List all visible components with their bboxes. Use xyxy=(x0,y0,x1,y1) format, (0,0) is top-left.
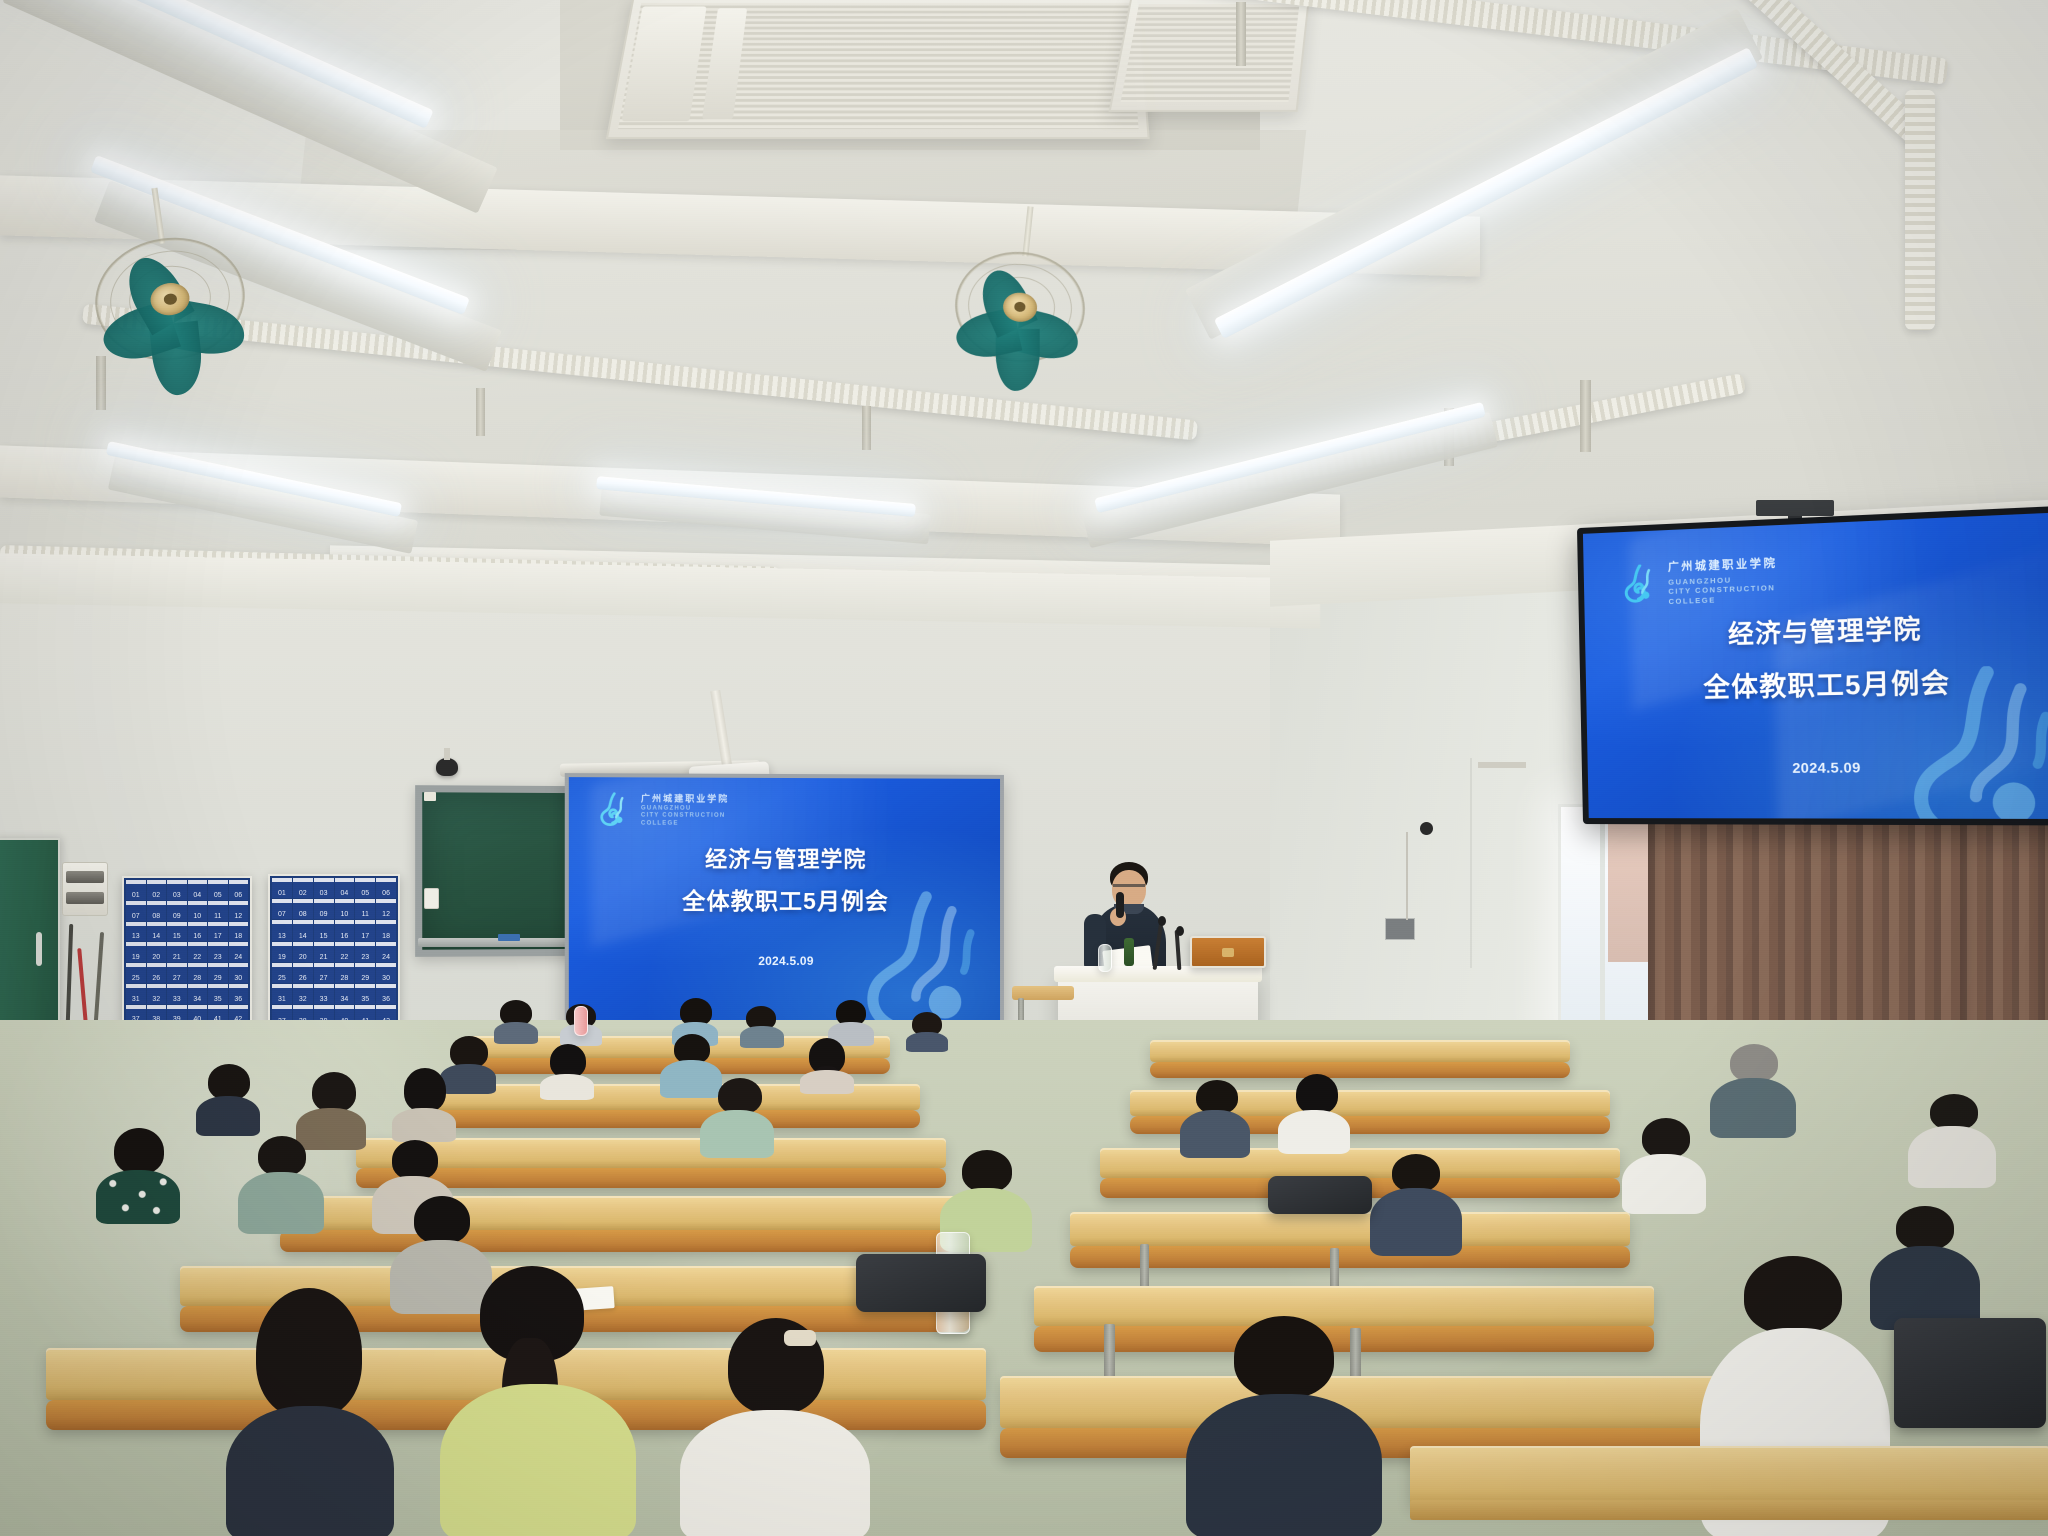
wall-sign xyxy=(1385,918,1415,940)
podium-top-surface xyxy=(1054,966,1262,982)
attendee-foreground-far-right xyxy=(1186,1316,1382,1536)
phone-pocket: 07 xyxy=(126,901,146,921)
attendee-hair xyxy=(1392,1154,1440,1192)
phone-pocket: 02 xyxy=(147,880,167,900)
attendee-body xyxy=(1180,1110,1250,1158)
bench-row-2-left xyxy=(420,1110,920,1128)
wall-display-tv[interactable]: 广州城建职业学院 GUANGZHOU CITY CONSTRUCTION COL… xyxy=(1577,505,2048,826)
attendee-body xyxy=(1370,1188,1462,1256)
wall-ac-vent-top xyxy=(66,871,105,882)
desk-bag-front xyxy=(856,1254,986,1312)
attendee-body xyxy=(1186,1394,1382,1536)
phone-pocket: 25 xyxy=(126,963,146,983)
attendee-hair-grey xyxy=(1730,1044,1778,1082)
security-camera xyxy=(436,758,458,776)
phone-pocket: 26 xyxy=(147,963,167,983)
phone-pocket: 11 xyxy=(208,901,228,921)
projection-logo-chinese: 广州城建职业学院 xyxy=(641,793,729,805)
college-logo: 广州城建职业学院 GUANGZHOU CITY CONSTRUCTION COL… xyxy=(1623,557,1778,607)
attendee-body xyxy=(540,1074,594,1100)
hair-clip xyxy=(784,1330,816,1346)
attendee-body xyxy=(1278,1110,1350,1154)
phone-pocket: 16 xyxy=(188,922,208,942)
presenter-glasses xyxy=(1113,884,1145,887)
phone-pocket: 04 xyxy=(188,880,208,900)
phone-pocket: 28 xyxy=(188,963,208,983)
attendee-hair xyxy=(392,1140,438,1180)
tv-wall-mount xyxy=(1756,500,1834,516)
phone-pocket: 05 xyxy=(355,878,375,898)
phone-pocket: 14 xyxy=(293,920,313,940)
wall-bracket xyxy=(1478,762,1526,768)
attendee xyxy=(196,1064,260,1134)
wooden-award-case xyxy=(1190,936,1266,968)
ceiling-ac-cassette-right xyxy=(1109,0,1311,112)
phone-pocket: 24 xyxy=(376,942,396,962)
slide-date: 2024.5.09 xyxy=(1588,757,2048,777)
phone-pocket: 18 xyxy=(229,922,249,942)
phone-pocket: 36 xyxy=(229,984,249,1004)
bench-row-1-right xyxy=(1150,1062,1570,1078)
attendee-body xyxy=(680,1410,870,1536)
phone-pocket: 29 xyxy=(355,963,375,983)
phone-pocket: 32 xyxy=(147,984,167,1004)
projection-college-logo: 广州城建职业学院 GUANGZHOU CITY CONSTRUCTION COL… xyxy=(599,792,729,829)
phone-pocket: 10 xyxy=(188,901,208,921)
phone-pocket: 30 xyxy=(376,963,396,983)
attendee-body xyxy=(906,1032,948,1052)
attendee xyxy=(1278,1074,1350,1152)
attendee-hair-long xyxy=(256,1288,362,1418)
attendee-hair xyxy=(1642,1118,1690,1158)
attendee xyxy=(238,1136,324,1232)
attendee-hair xyxy=(1744,1256,1842,1334)
phone-pocket: 03 xyxy=(314,878,334,898)
phone-pocket: 08 xyxy=(147,901,167,921)
ceiling-conduit-right-down xyxy=(1905,90,1935,330)
desk-row-3-right xyxy=(1100,1148,1620,1178)
projection-date: 2024.5.09 xyxy=(569,954,1000,969)
logo-chinese-name: 广州城建职业学院 xyxy=(1668,557,1778,575)
phone-pocket: 17 xyxy=(355,920,375,940)
phone-pocket: 25 xyxy=(272,963,292,983)
phone-pocket: 28 xyxy=(335,963,355,983)
attendee xyxy=(392,1068,456,1138)
wall-panel-seam xyxy=(1470,758,1472,968)
phone-pocket: 16 xyxy=(335,920,355,940)
conduit-hanger-6 xyxy=(862,406,871,450)
phone-pocket: 36 xyxy=(376,984,396,1004)
attendee-body xyxy=(196,1096,260,1136)
phone-pocket: 12 xyxy=(376,899,396,919)
attendee-hair xyxy=(404,1068,446,1112)
attendee-hair xyxy=(1196,1080,1238,1114)
attendee-hair xyxy=(1234,1316,1334,1398)
phone-pocket: 11 xyxy=(355,899,375,919)
attendee-body xyxy=(1710,1078,1796,1138)
phone-pocket: 08 xyxy=(293,899,313,919)
attendee-body xyxy=(740,1026,784,1048)
phone-pocket: 31 xyxy=(272,984,292,1004)
phone-pocket: 15 xyxy=(167,922,187,942)
conduit-hanger-2 xyxy=(1580,380,1591,452)
phone-pocket: 15 xyxy=(314,920,334,940)
attendee-hair xyxy=(414,1196,470,1244)
phone-pocket: 31 xyxy=(126,984,146,1004)
wall-switch-plate[interactable] xyxy=(424,888,439,909)
phone-pocket: 34 xyxy=(335,984,355,1004)
phone-pocket: 18 xyxy=(376,920,396,940)
attendee-body xyxy=(440,1384,636,1536)
desk-bottle-pink xyxy=(574,1006,588,1036)
attendee-body xyxy=(700,1110,774,1158)
attendee xyxy=(700,1078,774,1156)
phone-pocket: 23 xyxy=(208,942,228,962)
attendee xyxy=(540,1044,594,1096)
attendee-hair xyxy=(258,1136,306,1176)
phone-pocket: 04 xyxy=(335,878,355,898)
podium-green-bottle xyxy=(1124,938,1134,966)
phone-pocket: 33 xyxy=(314,984,334,1004)
attendee xyxy=(906,1012,948,1050)
projection-title-line-1: 经济与管理学院 xyxy=(569,842,1000,875)
bench-row-4-right xyxy=(1070,1246,1630,1268)
podium-water-bottle xyxy=(1098,944,1112,972)
phone-pocket: 35 xyxy=(208,984,228,1004)
phone-pocket: 24 xyxy=(229,942,249,962)
wall-air-conditioner xyxy=(62,862,108,916)
attendee-body xyxy=(226,1406,394,1536)
phone-pocket: 27 xyxy=(167,963,187,983)
microphone-capsule-2 xyxy=(1176,926,1184,936)
phone-pocket: 03 xyxy=(167,880,187,900)
projection-slide: 广州城建职业学院 GUANGZHOU CITY CONSTRUCTION COL… xyxy=(569,777,1000,1027)
phone-pocket: 01 xyxy=(126,880,146,900)
ac-grille-right xyxy=(1121,4,1300,102)
phone-pocket: 14 xyxy=(147,922,167,942)
projection-logo-en-2: CITY CONSTRUCTION xyxy=(641,813,729,821)
projection-logo-text: 广州城建职业学院 GUANGZHOU CITY CONSTRUCTION COL… xyxy=(641,793,729,828)
microphone-capsule-1 xyxy=(1158,916,1166,926)
phone-pocket: 22 xyxy=(188,942,208,962)
desk-bag xyxy=(1268,1176,1372,1214)
lecture-hall-photo: 0102030405060708091011121314151617181920… xyxy=(0,0,2048,1536)
phone-pocket: 32 xyxy=(293,984,313,1004)
phone-pocket: 09 xyxy=(167,901,187,921)
phone-pocket: 21 xyxy=(167,942,187,962)
attendee-body xyxy=(238,1172,324,1234)
phone-pocket: 01 xyxy=(272,878,292,898)
attendee xyxy=(1622,1118,1706,1212)
conduit-hanger-5 xyxy=(476,388,485,436)
phone-pocket: 05 xyxy=(208,880,228,900)
attendee-hair xyxy=(1896,1206,1954,1250)
phone-pocket: 23 xyxy=(355,942,375,962)
ceiling-ac-cassette xyxy=(606,0,1150,139)
desk-front-edge xyxy=(1410,1500,2048,1520)
attendee-hair xyxy=(1930,1094,1978,1130)
phone-pocket: 12 xyxy=(229,901,249,921)
attendee-body-polkadot xyxy=(96,1170,180,1224)
desk-front-strip xyxy=(1410,1446,2048,1506)
phone-pocket: 10 xyxy=(335,899,355,919)
phone-pocket: 22 xyxy=(335,942,355,962)
attendee-hair xyxy=(312,1072,356,1112)
attendee-hair xyxy=(1296,1074,1338,1114)
projection-logo-en-3: COLLEGE xyxy=(641,820,729,828)
phone-pocket: 17 xyxy=(208,922,228,942)
wall-outlet[interactable] xyxy=(1420,822,1433,835)
attendee xyxy=(800,1038,854,1092)
phone-pocket: 20 xyxy=(147,942,167,962)
phone-pocket: 19 xyxy=(126,942,146,962)
chalk-eraser xyxy=(498,934,520,941)
phone-pocket: 34 xyxy=(188,984,208,1004)
attendee-hair xyxy=(718,1078,762,1114)
phone-pocket: 07 xyxy=(272,899,292,919)
camera-mount xyxy=(444,748,450,760)
attendee-foreground-right xyxy=(680,1318,870,1536)
phone-pocket: 02 xyxy=(293,878,313,898)
conduit-hanger-1 xyxy=(1236,2,1246,66)
chalkboard-corner-tag xyxy=(424,792,436,801)
wall-ac-vent-bottom xyxy=(66,892,105,903)
phone-pocket: 29 xyxy=(208,963,228,983)
attendee-senior xyxy=(1710,1044,1796,1136)
attendee xyxy=(1180,1080,1250,1156)
desk-row-1-right xyxy=(1150,1040,1570,1062)
phone-pocket: 20 xyxy=(293,942,313,962)
attendee-hair xyxy=(962,1150,1012,1192)
attendee xyxy=(740,1006,784,1046)
attendee-body xyxy=(392,1108,456,1142)
attendee xyxy=(494,1000,538,1042)
attendee xyxy=(1908,1094,1996,1186)
phone-pocket: 33 xyxy=(167,984,187,1004)
phone-pocket: 06 xyxy=(229,880,249,900)
phone-pocket: 35 xyxy=(355,984,375,1004)
attendee-body xyxy=(1908,1126,1996,1188)
attendee-hair xyxy=(208,1064,250,1100)
desk-row-4-right xyxy=(1070,1212,1630,1246)
ceiling-fan-right xyxy=(950,246,1091,369)
projection-title-line-2: 全体教职工5月例会 xyxy=(569,882,1000,916)
attendee xyxy=(96,1128,180,1220)
attendee xyxy=(296,1072,366,1146)
ceiling-fan-left xyxy=(87,228,253,370)
attendee-foreground-left xyxy=(226,1288,394,1536)
door-handle[interactable] xyxy=(36,932,42,966)
wall-cord xyxy=(1406,832,1408,920)
attendee-foreground-yellow xyxy=(440,1266,636,1536)
window-mullion xyxy=(1600,804,1605,1034)
phone-pocket: 13 xyxy=(272,920,292,940)
attendee-body xyxy=(494,1022,538,1044)
phone-pocket: 26 xyxy=(293,963,313,983)
logo-text-block: 广州城建职业学院 GUANGZHOU CITY CONSTRUCTION COL… xyxy=(1668,557,1779,606)
phone-pocket: 30 xyxy=(229,963,249,983)
phone-pocket: 27 xyxy=(314,963,334,983)
tv-slide: 广州城建职业学院 GUANGZHOU CITY CONSTRUCTION COL… xyxy=(1583,512,2048,819)
flame-logo-icon-projected xyxy=(599,792,629,828)
attendee-body xyxy=(800,1070,854,1094)
phone-pocket: 06 xyxy=(376,878,396,898)
phone-pocket: 19 xyxy=(272,942,292,962)
phone-pocket: 13 xyxy=(126,922,146,942)
attendee-body xyxy=(1622,1154,1706,1214)
projection-screen: 广州城建职业学院 GUANGZHOU CITY CONSTRUCTION COL… xyxy=(565,773,1004,1031)
phone-pocket: 21 xyxy=(314,942,334,962)
attendee-hair xyxy=(114,1128,164,1174)
desk-bag-rightmost xyxy=(1894,1318,2046,1428)
handheld-microphone-icon xyxy=(1116,892,1124,918)
phone-pocket: 09 xyxy=(314,899,334,919)
attendee xyxy=(1370,1154,1462,1254)
flame-logo-icon xyxy=(1623,564,1658,606)
